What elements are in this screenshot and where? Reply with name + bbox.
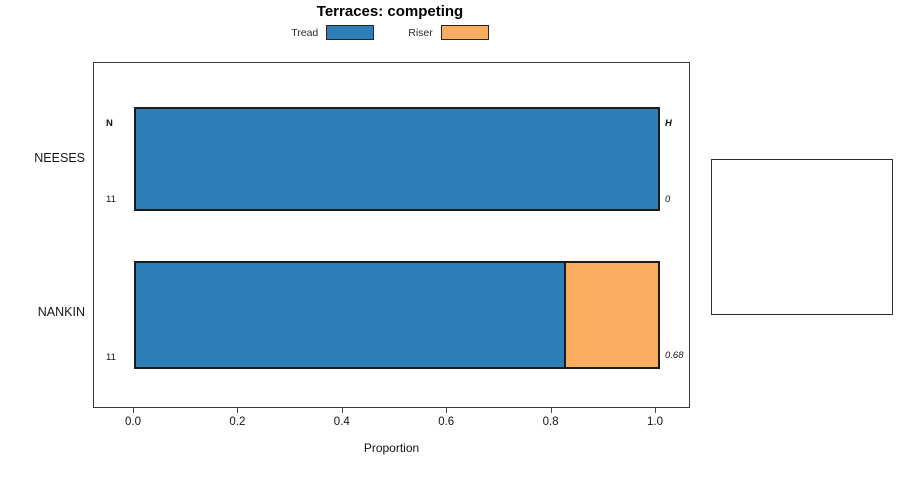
plot-area: N 11 H 0 11 0.68 bbox=[93, 62, 690, 408]
legend-item-riser[interactable]: Riser bbox=[408, 25, 489, 40]
legend-swatch-riser bbox=[441, 25, 489, 40]
x-axis: 0.00.20.40.60.81.0 Proportion bbox=[93, 408, 690, 468]
legend-label-tread: Tread bbox=[291, 27, 318, 39]
y-axis-tick-label-neeses: NEESES bbox=[34, 151, 85, 165]
bar-segment-tread-neeses[interactable] bbox=[136, 109, 658, 209]
x-axis-tick-mark bbox=[551, 408, 552, 413]
x-axis-tick-mark bbox=[133, 408, 134, 413]
bar-segment-riser-nankin[interactable] bbox=[564, 263, 658, 367]
bar-row-nankin[interactable] bbox=[134, 261, 660, 369]
x-axis-tick-label: 0.8 bbox=[543, 416, 559, 428]
x-axis-tick-mark bbox=[237, 408, 238, 413]
legend-label-riser: Riser bbox=[408, 27, 433, 39]
legend-item-tread[interactable]: Tread bbox=[291, 25, 374, 40]
x-axis-tick-label: 0.2 bbox=[229, 416, 245, 428]
x-axis-tick-label: 1.0 bbox=[647, 416, 663, 428]
side-panel bbox=[711, 159, 893, 315]
x-axis-tick-label: 0.4 bbox=[334, 416, 350, 428]
y-axis-tick-label-nankin: NANKIN bbox=[38, 305, 85, 319]
annotation-n-neeses: 11 bbox=[106, 194, 116, 205]
page-title: Terraces: competing bbox=[0, 3, 780, 20]
x-axis-title: Proportion bbox=[93, 441, 690, 455]
y-axis-labels: NEESES NANKIN bbox=[0, 62, 85, 408]
chart-legend: Tread Riser bbox=[0, 25, 780, 40]
legend-swatch-tread bbox=[326, 25, 374, 40]
annotation-h-header: H bbox=[665, 118, 672, 129]
x-axis-tick-mark bbox=[655, 408, 656, 413]
bar-segment-tread-nankin[interactable] bbox=[136, 263, 564, 367]
bar-row-neeses[interactable] bbox=[134, 107, 660, 211]
x-axis-tick-mark bbox=[342, 408, 343, 413]
x-axis-tick-label: 0.0 bbox=[125, 416, 141, 428]
annotation-n-header: N bbox=[106, 118, 113, 129]
x-axis-tick-label: 0.6 bbox=[438, 416, 454, 428]
annotation-h-neeses: 0 bbox=[665, 194, 670, 205]
annotation-n-nankin: 11 bbox=[106, 352, 116, 363]
annotation-h-nankin: 0.68 bbox=[665, 350, 684, 361]
x-axis-tick-mark bbox=[446, 408, 447, 413]
